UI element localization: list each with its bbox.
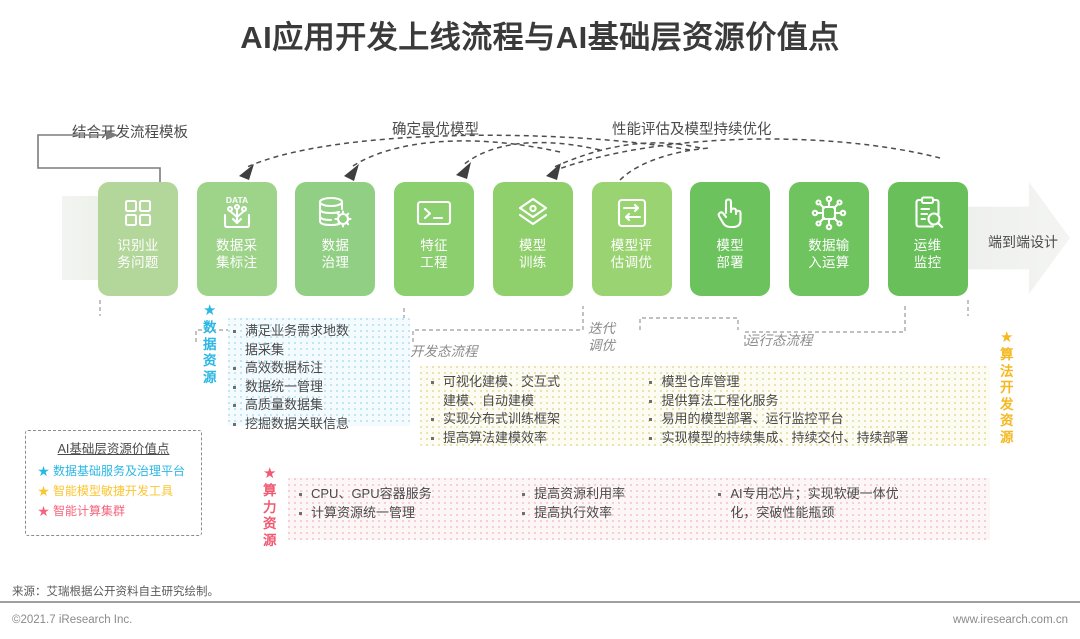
vertical-label-char: 资 [203, 353, 217, 370]
process-step-8[interactable]: 数据输入运算 [789, 182, 869, 296]
vertical-label-char: 资 [1000, 413, 1014, 430]
list-item: 高质量数据集 [230, 396, 406, 415]
legend-item-label: 智能模型敏捷开发工具 [53, 482, 173, 499]
panel-algorithm-resource: 可视化建模、交互式建模、自动建模实现分布式训练框架提高算法建模效率 模型仓库管理… [420, 366, 990, 446]
process-step-label: 识别业务问题 [117, 237, 158, 271]
vertical-label-char: 资 [263, 516, 277, 533]
annotation-perf-eval: 性能评估及模型持续优化 [612, 118, 772, 139]
vertical-label-char: 数 [203, 320, 217, 337]
process-step-label: 特征工程 [420, 237, 448, 271]
panel-power-resource: CPU、GPU容器服务计算资源统一管理 提高资源利用率提高执行效率 AI专用芯片… [288, 478, 990, 540]
process-step-label: 模型评估调优 [611, 237, 652, 271]
vertical-label-char: 开 [1000, 380, 1014, 397]
footer-divider [0, 601, 1080, 603]
list-item: 实现分布式训练框架 [428, 410, 632, 429]
flow-left-band [62, 196, 102, 280]
legend-item-2: ★智能模型敏捷开发工具 [34, 482, 201, 499]
resource-label-data: ★ 数据资源 [203, 303, 217, 386]
vertical-label-char: 据 [203, 337, 217, 354]
website-link[interactable]: www.iresearch.com.cn [953, 614, 1068, 626]
star-icon: ★ [34, 464, 53, 478]
list-item: AI专用芯片；实现软硬一体优 [715, 485, 984, 504]
list-item: 提供算法工程化服务 [646, 392, 984, 411]
list-item: 可视化建模、交互式 [428, 373, 632, 392]
section-label-runtime: 运行态流程 [745, 329, 813, 349]
list-item: 计算资源统一管理 [296, 504, 505, 523]
legend-item-label: 数据基础服务及治理平台 [53, 462, 185, 479]
grid-squares-icon [121, 193, 155, 233]
clipboard-search-icon [911, 193, 945, 233]
list-item: 化，突破性能瓶颈 [715, 504, 984, 523]
chip-network-icon [811, 193, 847, 233]
process-step-4[interactable]: 特征工程 [394, 182, 474, 296]
legend-item-label: 智能计算集群 [53, 502, 125, 519]
data-collect-icon: DATA [217, 193, 257, 233]
process-step-label: 运维监控 [914, 237, 942, 271]
list-item: 实现模型的持续集成、持续交付、持续部署 [646, 429, 984, 448]
vertical-label-char: 发 [1000, 397, 1014, 414]
terminal-icon [415, 193, 453, 233]
process-step-label: 数据治理 [322, 237, 350, 271]
list-item: 提高算法建模效率 [428, 429, 632, 448]
legend-box: AI基础层资源价值点 ★数据基础服务及治理平台★智能模型敏捷开发工具★智能计算集… [25, 430, 202, 536]
copyright-text: ©2021.7 iResearch Inc. [12, 614, 132, 626]
resource-label-power: ★ 算力资源 [263, 466, 277, 549]
vertical-label-char: 法 [1000, 364, 1014, 381]
list-item: 提高执行效率 [519, 504, 701, 523]
process-step-5[interactable]: 模型训练 [493, 182, 573, 296]
list-item: 提高资源利用率 [519, 485, 701, 504]
list-item: 高效数据标注 [230, 359, 406, 378]
process-step-label: 模型训练 [519, 237, 547, 271]
star-icon: ★ [203, 303, 216, 318]
process-step-9[interactable]: 运维监控 [888, 182, 968, 296]
legend-item-3: ★智能计算集群 [34, 502, 201, 519]
process-step-label: 数据采集标注 [216, 237, 257, 271]
vertical-label-char: 算 [1000, 347, 1014, 364]
resource-label-algorithm: ★ 算法开发资源 [1000, 330, 1014, 446]
flow-arrow-layer [0, 0, 1080, 639]
process-step-7[interactable]: 模型部署 [690, 182, 770, 296]
star-icon: ★ [263, 466, 276, 481]
section-label-iterate: 迭代 调优 [588, 320, 615, 354]
list-item: 据采集 [230, 341, 406, 360]
legend-item-1: ★数据基础服务及治理平台 [34, 462, 201, 479]
section-label-dev: 开发态流程 [410, 340, 478, 360]
source-note: 来源：艾瑞根据公开资料自主研究绘制。 [12, 583, 219, 599]
compare-panel-icon [615, 193, 649, 233]
iterate-line-1: 迭代 [588, 321, 615, 336]
star-icon: ★ [1000, 330, 1013, 345]
vertical-label-char: 源 [263, 533, 277, 550]
list-item: 挖掘数据关联信息 [230, 415, 406, 434]
annotation-dev-template: 结合开发流程模板 [72, 121, 188, 142]
vertical-label-char: 算 [263, 483, 277, 500]
annotation-best-model: 确定最优模型 [392, 118, 479, 139]
vertical-label-char: 力 [263, 500, 277, 517]
process-step-2[interactable]: DATA数据采集标注 [197, 182, 277, 296]
legend-title: AI基础层资源价值点 [26, 438, 201, 457]
star-icon: ★ [34, 504, 53, 518]
end-to-end-label: 端到端设计 [988, 232, 1058, 252]
click-hand-icon [713, 193, 747, 233]
process-step-label: 模型部署 [716, 237, 744, 271]
database-gear-icon [316, 193, 354, 233]
vertical-label-char: 源 [203, 370, 217, 387]
process-step-1[interactable]: 识别业务问题 [98, 182, 178, 296]
list-item: 数据统一管理 [230, 378, 406, 397]
process-step-row: 识别业务问题DATA数据采集标注数据治理特征工程模型训练模型评估调优模型部署数据… [98, 182, 968, 296]
list-item: 满足业务需求地数 [230, 322, 406, 341]
list-item: CPU、GPU容器服务 [296, 485, 505, 504]
star-icon: ★ [34, 484, 53, 498]
process-step-6[interactable]: 模型评估调优 [592, 182, 672, 296]
list-item: 建模、自动建模 [428, 392, 632, 411]
process-step-label: 数据输入运算 [808, 237, 849, 271]
page-title: AI应用开发上线流程与AI基础层资源价值点 [0, 12, 1080, 57]
layers-diamond-icon [515, 193, 551, 233]
svg-text:DATA: DATA [226, 195, 248, 205]
process-step-3[interactable]: 数据治理 [295, 182, 375, 296]
vertical-label-char: 源 [1000, 430, 1014, 447]
list-item: 模型仓库管理 [646, 373, 984, 392]
panel-data-resource: 满足业务需求地数据采集高效数据标注数据统一管理高质量数据集挖掘数据关联信息 [228, 318, 410, 426]
iterate-line-2: 调优 [588, 338, 615, 353]
list-item: 易用的模型部署、运行监控平台 [646, 410, 984, 429]
